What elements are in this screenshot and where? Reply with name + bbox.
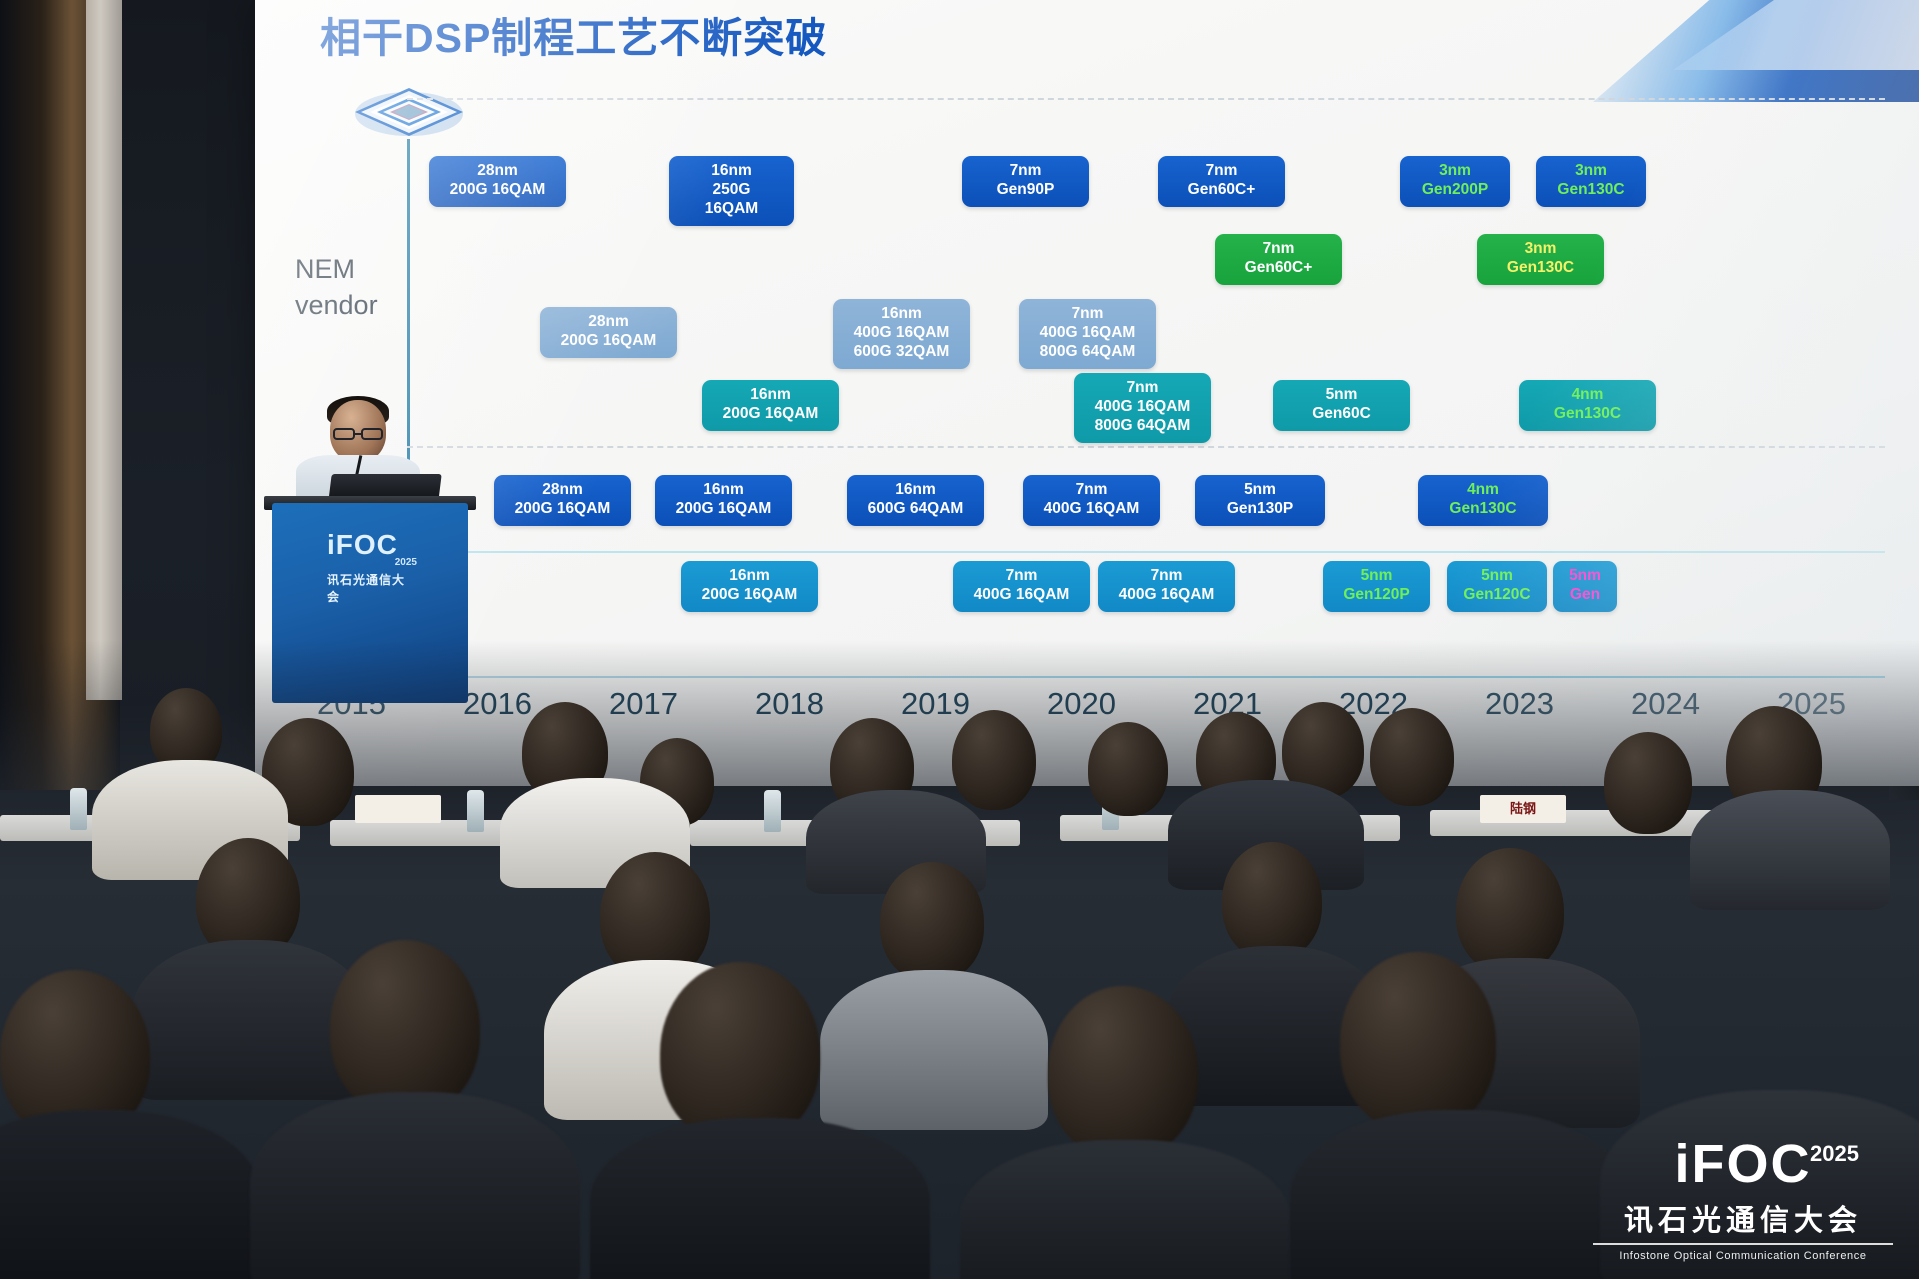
audience-head <box>1604 732 1692 834</box>
roadmap-node: 3nmGen200P <box>1400 156 1510 207</box>
roadmap-node: 3nmGen130C <box>1477 234 1604 285</box>
podium-logo-chinese: 讯石光通信大会 <box>327 571 417 605</box>
roadmap-node-spec: Gen130C <box>1529 405 1646 424</box>
section-divider-bottom <box>407 551 1885 553</box>
name-card: 陆钢 <box>1480 795 1566 823</box>
roadmap-node: 5nmGen60C <box>1273 380 1410 431</box>
left-wall-panel <box>86 0 122 700</box>
roadmap-node: 7nm400G 16QAM <box>1098 561 1235 612</box>
roadmap-node-process: 7nm <box>1263 240 1295 257</box>
podium-logo-mark: iFOC <box>327 531 417 559</box>
nem-vendor-label: NEM vendor <box>295 251 378 324</box>
roadmap-node-process: 3nm <box>1575 162 1607 179</box>
roadmap-node-spec: 400G 16QAM <box>1029 324 1146 343</box>
roadmap-node-process: 16nm <box>729 567 770 584</box>
slide-title: 相干DSP制程工艺不断突破 <box>320 4 827 64</box>
roadmap-node: 5nmGen130P <box>1195 475 1325 526</box>
name-card <box>355 795 441 823</box>
roadmap-node-spec: Gen130C <box>1546 181 1636 200</box>
audience-body-foreground <box>250 1092 580 1279</box>
audience-body <box>820 970 1048 1130</box>
roadmap-node-process: 7nm <box>1006 567 1038 584</box>
event-logo-chinese: 讯石光通信大会 <box>1593 1197 1893 1239</box>
roadmap-node: 5nmGen <box>1553 561 1617 612</box>
roadmap-node: 7nmGen60C+ <box>1158 156 1285 207</box>
roadmap-node: 5nmGen120C <box>1447 561 1547 612</box>
event-logo-english: Infostone Optical Communication Conferen… <box>1593 1250 1893 1262</box>
roadmap-node-process: 28nm <box>542 481 583 498</box>
roadmap-node: 7nm400G 16QAM <box>953 561 1090 612</box>
roadmap-node-process: 4nm <box>1467 481 1499 498</box>
roadmap-node-spec2: 800G 64QAM <box>1084 417 1201 436</box>
roadmap-node-spec: 600G 64QAM <box>857 500 974 519</box>
audience-body-foreground <box>960 1140 1290 1279</box>
roadmap-node: 7nm400G 16QAM800G 64QAM <box>1074 373 1211 443</box>
section-divider-top <box>407 98 1885 100</box>
audience-head <box>880 862 984 982</box>
audience-head-foreground <box>330 940 480 1116</box>
roadmap-node: 5nmGen120P <box>1323 561 1430 612</box>
roadmap-node-process: 7nm <box>1010 162 1042 179</box>
roadmap-node-spec: 400G 16QAM <box>843 324 960 343</box>
roadmap-node-process: 16nm <box>750 386 791 403</box>
roadmap-node-spec: Gen120P <box>1333 586 1420 605</box>
roadmap-node: 16nm200G 16QAM <box>702 380 839 431</box>
roadmap-node: 3nmGen130C <box>1536 156 1646 207</box>
roadmap-node-process: 16nm <box>703 481 744 498</box>
roadmap-node-process: 7nm <box>1127 379 1159 396</box>
audience-body-foreground <box>1290 1110 1630 1279</box>
roadmap-node: 4nmGen130C <box>1519 380 1656 431</box>
roadmap-node-spec: 250G <box>679 181 784 200</box>
roadmap-node-spec: Gen60C+ <box>1225 259 1332 278</box>
roadmap-node-process: 3nm <box>1525 240 1557 257</box>
audience-head-foreground <box>660 962 820 1144</box>
roadmap-node-process: 28nm <box>477 162 518 179</box>
water-bottle <box>467 790 484 832</box>
roadmap-node-spec2: 600G 32QAM <box>843 343 960 362</box>
water-bottle <box>70 788 87 830</box>
audience-head <box>1456 848 1564 974</box>
roadmap-node-spec: Gen90P <box>972 181 1079 200</box>
conference-room: 相干DSP制程工艺不断突破 NEM vendor 28nm200G 16QAM1… <box>0 0 1919 1279</box>
audience-head <box>952 710 1036 810</box>
roadmap-node-spec: Gen60C+ <box>1168 181 1275 200</box>
podium-logo: iFOC 2025 讯石光通信大会 <box>327 531 417 589</box>
roadmap-node: 7nmGen90P <box>962 156 1089 207</box>
roadmap-node: 16nm250G16QAM <box>669 156 794 226</box>
roadmap-node-spec: 400G 16QAM <box>1033 500 1150 519</box>
audience-body <box>1690 790 1890 910</box>
roadmap-node-process: 7nm <box>1151 567 1183 584</box>
roadmap-node-process: 7nm <box>1076 481 1108 498</box>
roadmap-node-process: 16nm <box>881 305 922 322</box>
roadmap-node-spec: 200G 16QAM <box>712 405 829 424</box>
roadmap-node-spec2: 16QAM <box>679 200 784 219</box>
audience-head <box>1222 842 1322 960</box>
audience-head-foreground <box>1048 986 1198 1158</box>
event-logo-year: 2025 <box>1810 1141 1859 1167</box>
nem-vendor-label-line1: NEM <box>295 251 378 287</box>
roadmap-node-process: 16nm <box>895 481 936 498</box>
roadmap-node-spec: Gen200P <box>1410 181 1500 200</box>
roadmap-node-process: 4nm <box>1572 386 1604 403</box>
roadmap-node: 16nm400G 16QAM600G 32QAM <box>833 299 970 369</box>
roadmap-node-spec: 200G 16QAM <box>665 500 782 519</box>
audience-head <box>1370 708 1454 806</box>
water-bottle <box>764 790 781 832</box>
roadmap-node: 16nm600G 64QAM <box>847 475 984 526</box>
audience-head-foreground <box>1340 952 1496 1132</box>
event-logo-divider <box>1593 1243 1893 1245</box>
roadmap-node-process: 3nm <box>1439 162 1471 179</box>
roadmap-node: 28nm200G 16QAM <box>429 156 566 207</box>
roadmap-node-process: 7nm <box>1206 162 1238 179</box>
roadmap-node-spec: 200G 16QAM <box>691 586 808 605</box>
roadmap-node-spec: 200G 16QAM <box>439 181 556 200</box>
section-divider-middle <box>407 446 1885 448</box>
glasses-icon <box>333 428 383 440</box>
roadmap-node: 7nm400G 16QAM <box>1023 475 1160 526</box>
event-logo: iFOC 2025 讯石光通信大会 Infostone Optical Comm… <box>1593 1137 1893 1257</box>
roadmap-node-spec: 200G 16QAM <box>550 332 667 351</box>
roadmap-node-process: 16nm <box>711 162 752 179</box>
roadmap-node-spec: 400G 16QAM <box>963 586 1080 605</box>
roadmap-node: 16nm200G 16QAM <box>681 561 818 612</box>
roadmap-node-spec: Gen120C <box>1457 586 1537 605</box>
roadmap-node: 7nm400G 16QAM800G 64QAM <box>1019 299 1156 369</box>
roadmap-node: 7nmGen60C+ <box>1215 234 1342 285</box>
roadmap-node-spec: 200G 16QAM <box>504 500 621 519</box>
roadmap-node: 28nm200G 16QAM <box>540 307 677 358</box>
chip-icon <box>349 84 469 140</box>
roadmap-node-spec: Gen130P <box>1205 500 1315 519</box>
roadmap-node-process: 5nm <box>1244 481 1276 498</box>
roadmap-node-process: 7nm <box>1072 305 1104 322</box>
roadmap-node-spec: Gen <box>1563 586 1607 605</box>
roadmap-node-spec2: 800G 64QAM <box>1029 343 1146 362</box>
roadmap-node-spec: 400G 16QAM <box>1084 398 1201 417</box>
roadmap-node: 16nm200G 16QAM <box>655 475 792 526</box>
roadmap-node-process: 5nm <box>1569 567 1601 584</box>
roadmap-node-process: 5nm <box>1326 386 1358 403</box>
roadmap-node-spec: Gen60C <box>1283 405 1400 424</box>
audience-body-foreground <box>590 1118 930 1279</box>
roadmap-node-process: 28nm <box>588 313 629 330</box>
roadmap-node-process: 5nm <box>1361 567 1393 584</box>
audience-head <box>1088 722 1168 816</box>
roadmap-node-spec: Gen130C <box>1487 259 1594 278</box>
roadmap-node-process: 5nm <box>1481 567 1513 584</box>
roadmap-node: 28nm200G 16QAM <box>494 475 631 526</box>
roadmap-node-spec: Gen130C <box>1428 500 1538 519</box>
roadmap-node-spec: 400G 16QAM <box>1108 586 1225 605</box>
nem-vendor-label-line2: vendor <box>295 287 378 323</box>
roadmap-node: 4nmGen130C <box>1418 475 1548 526</box>
